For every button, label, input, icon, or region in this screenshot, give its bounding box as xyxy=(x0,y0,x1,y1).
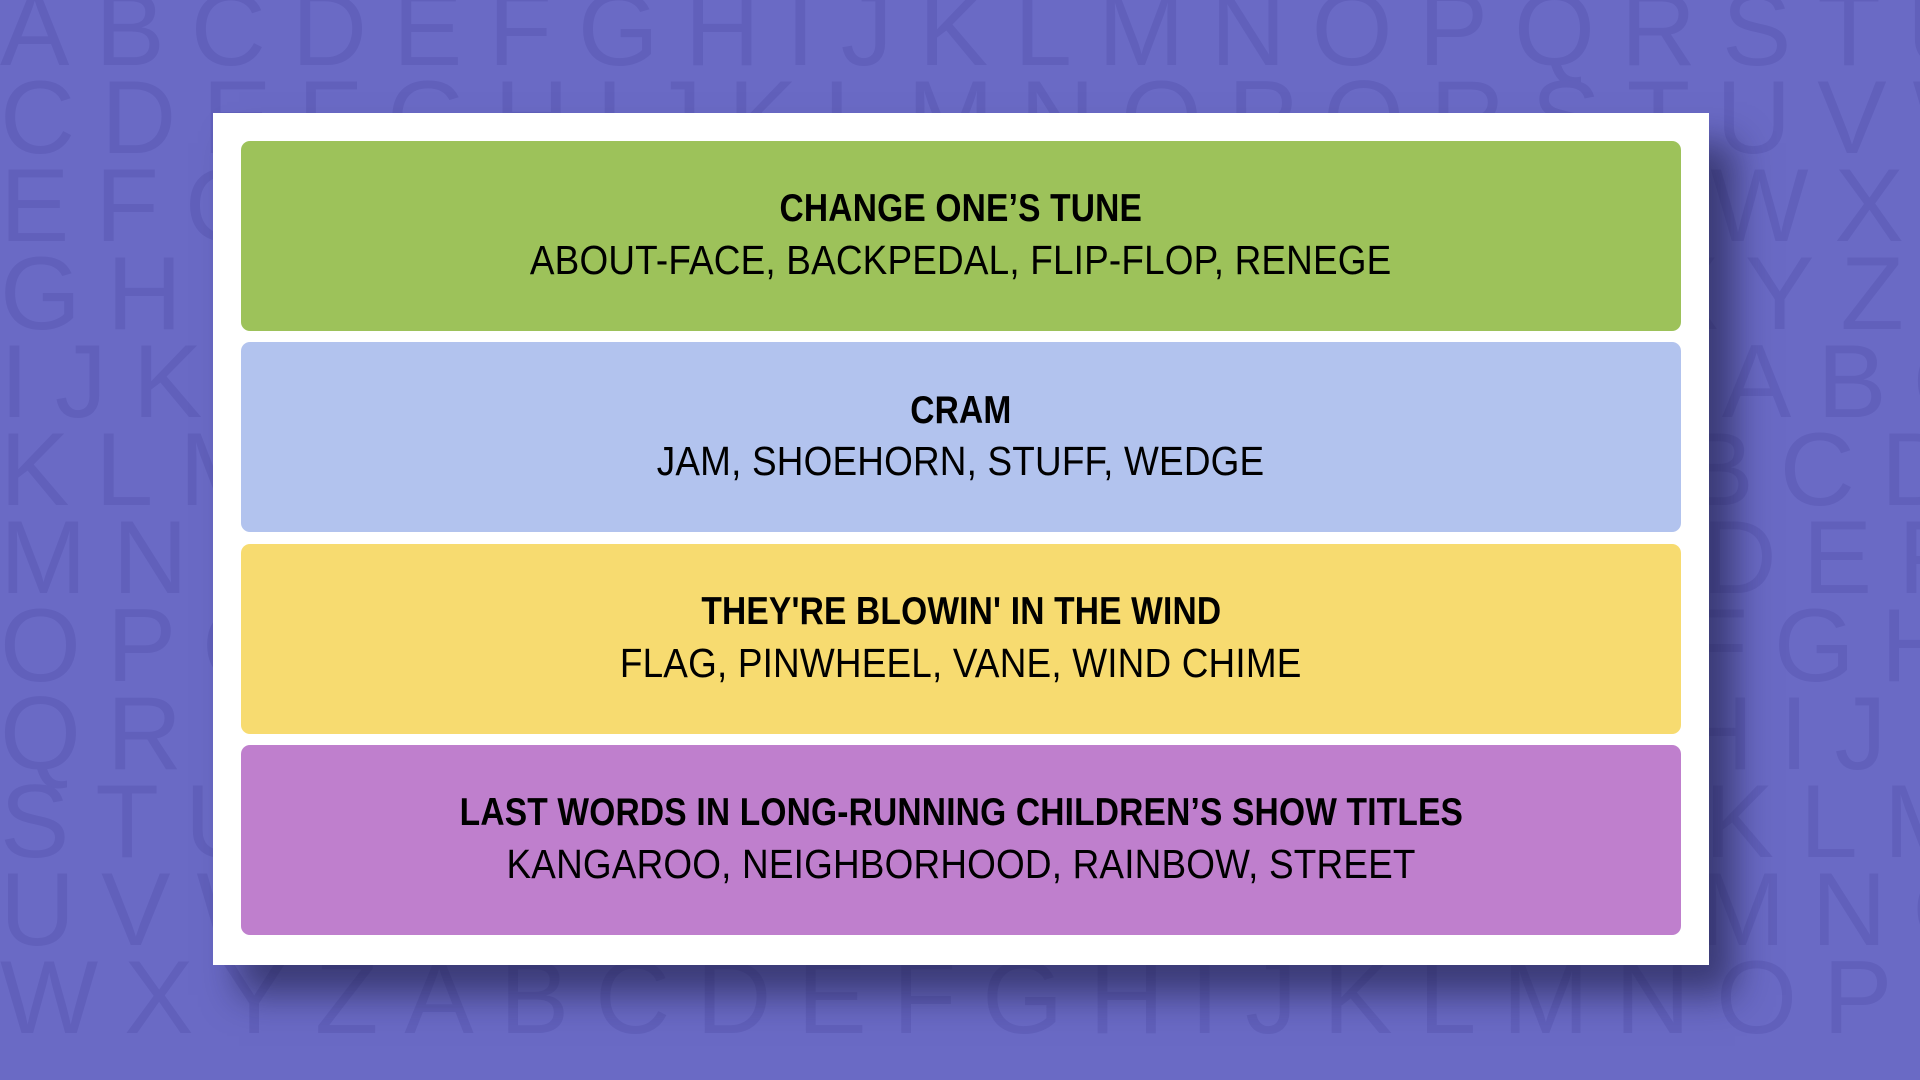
group-words-yellow: FLAG, PINWHEEL, VANE, WIND CHIME xyxy=(620,639,1302,687)
group-words-purple: KANGAROO, NEIGHBORHOOD, RAINBOW, STREET xyxy=(506,840,1415,888)
answers-card: CHANGE ONE’S TUNE ABOUT-FACE, BACKPEDAL,… xyxy=(213,113,1709,965)
group-title-yellow: THEY'RE BLOWIN' IN THE WIND xyxy=(701,590,1221,634)
group-row-yellow[interactable]: THEY'RE BLOWIN' IN THE WIND FLAG, PINWHE… xyxy=(241,544,1681,734)
group-row-green[interactable]: CHANGE ONE’S TUNE ABOUT-FACE, BACKPEDAL,… xyxy=(241,141,1681,331)
group-title-blue: CRAM xyxy=(910,389,1011,433)
group-row-purple[interactable]: LAST WORDS IN LONG-RUNNING CHILDREN’S SH… xyxy=(241,745,1681,935)
group-words-green: ABOUT-FACE, BACKPEDAL, FLIP-FLOP, RENEGE xyxy=(530,236,1392,284)
group-row-blue[interactable]: CRAM JAM, SHOEHORN, STUFF, WEDGE xyxy=(241,342,1681,532)
group-words-blue: JAM, SHOEHORN, STUFF, WEDGE xyxy=(657,437,1265,485)
group-title-purple: LAST WORDS IN LONG-RUNNING CHILDREN’S SH… xyxy=(459,791,1462,835)
group-title-green: CHANGE ONE’S TUNE xyxy=(780,187,1143,231)
